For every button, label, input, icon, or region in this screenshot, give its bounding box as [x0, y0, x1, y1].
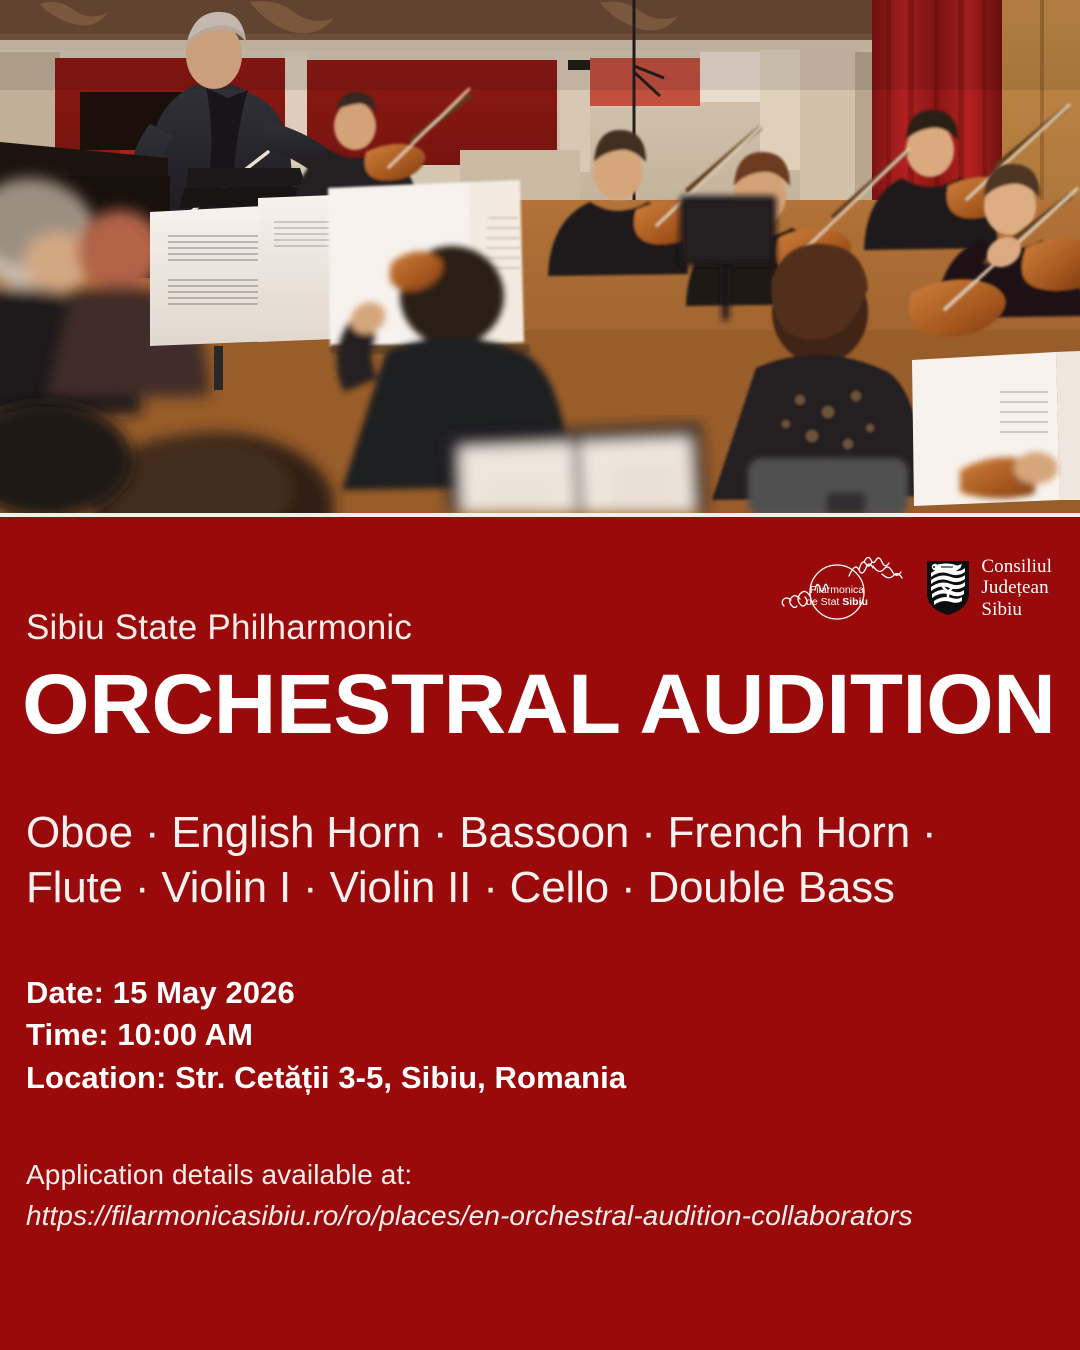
organization-name: Sibiu State Philharmonic — [26, 608, 412, 648]
page-title: ORCHESTRAL AUDITION — [22, 662, 1055, 746]
consiliul-line3: Sibiu — [981, 599, 1052, 621]
logo-group: Filarmonica de Stat Sibiu — [779, 552, 1052, 624]
instruments-line-1: Oboe · English Horn · Bassoon · French H… — [26, 805, 1026, 860]
instruments-list: Oboe · English Horn · Bassoon · French H… — [26, 805, 1026, 916]
application-info: Application details available at: https:… — [26, 1155, 913, 1237]
filarmonica-line2-prefix: de Stat — [806, 596, 842, 608]
svg-text:de Stat Sibiu: de Stat Sibiu — [806, 596, 868, 608]
application-url[interactable]: https://filarmonicasibiu.ro/ro/places/en… — [26, 1196, 913, 1237]
consiliul-judetean-sibiu-logo: Consiliul Județean Sibiu — [925, 556, 1052, 621]
audition-poster: Filarmonica de Stat Sibiu — [0, 0, 1080, 1350]
filarmonica-de-stat-sibiu-logo: Filarmonica de Stat Sibiu — [779, 552, 911, 624]
event-details: Date: 15 May 2026 Time: 10:00 AM Locatio… — [26, 972, 626, 1099]
orchestra-photo-illustration — [0, 0, 1080, 513]
consiliul-text-block: Consiliul Județean Sibiu — [981, 556, 1052, 621]
event-time: Time: 10:00 AM — [26, 1014, 626, 1056]
filarmonica-line2-bold: Sibiu — [843, 596, 869, 608]
instruments-line-2: Flute · Violin I · Violin II · Cello · D… — [26, 860, 1026, 915]
event-location: Location: Str. Cetății 3-5, Sibiu, Roman… — [26, 1057, 626, 1099]
orchestra-photo — [0, 0, 1080, 513]
application-label: Application details available at: — [26, 1155, 913, 1196]
event-date: Date: 15 May 2026 — [26, 972, 626, 1014]
filarmonica-line1: Filarmonica — [810, 584, 864, 596]
consiliul-line2: Județean — [981, 577, 1052, 599]
sibiu-coat-of-arms-shield-icon — [925, 559, 971, 617]
consiliul-line1: Consiliul — [981, 556, 1052, 578]
